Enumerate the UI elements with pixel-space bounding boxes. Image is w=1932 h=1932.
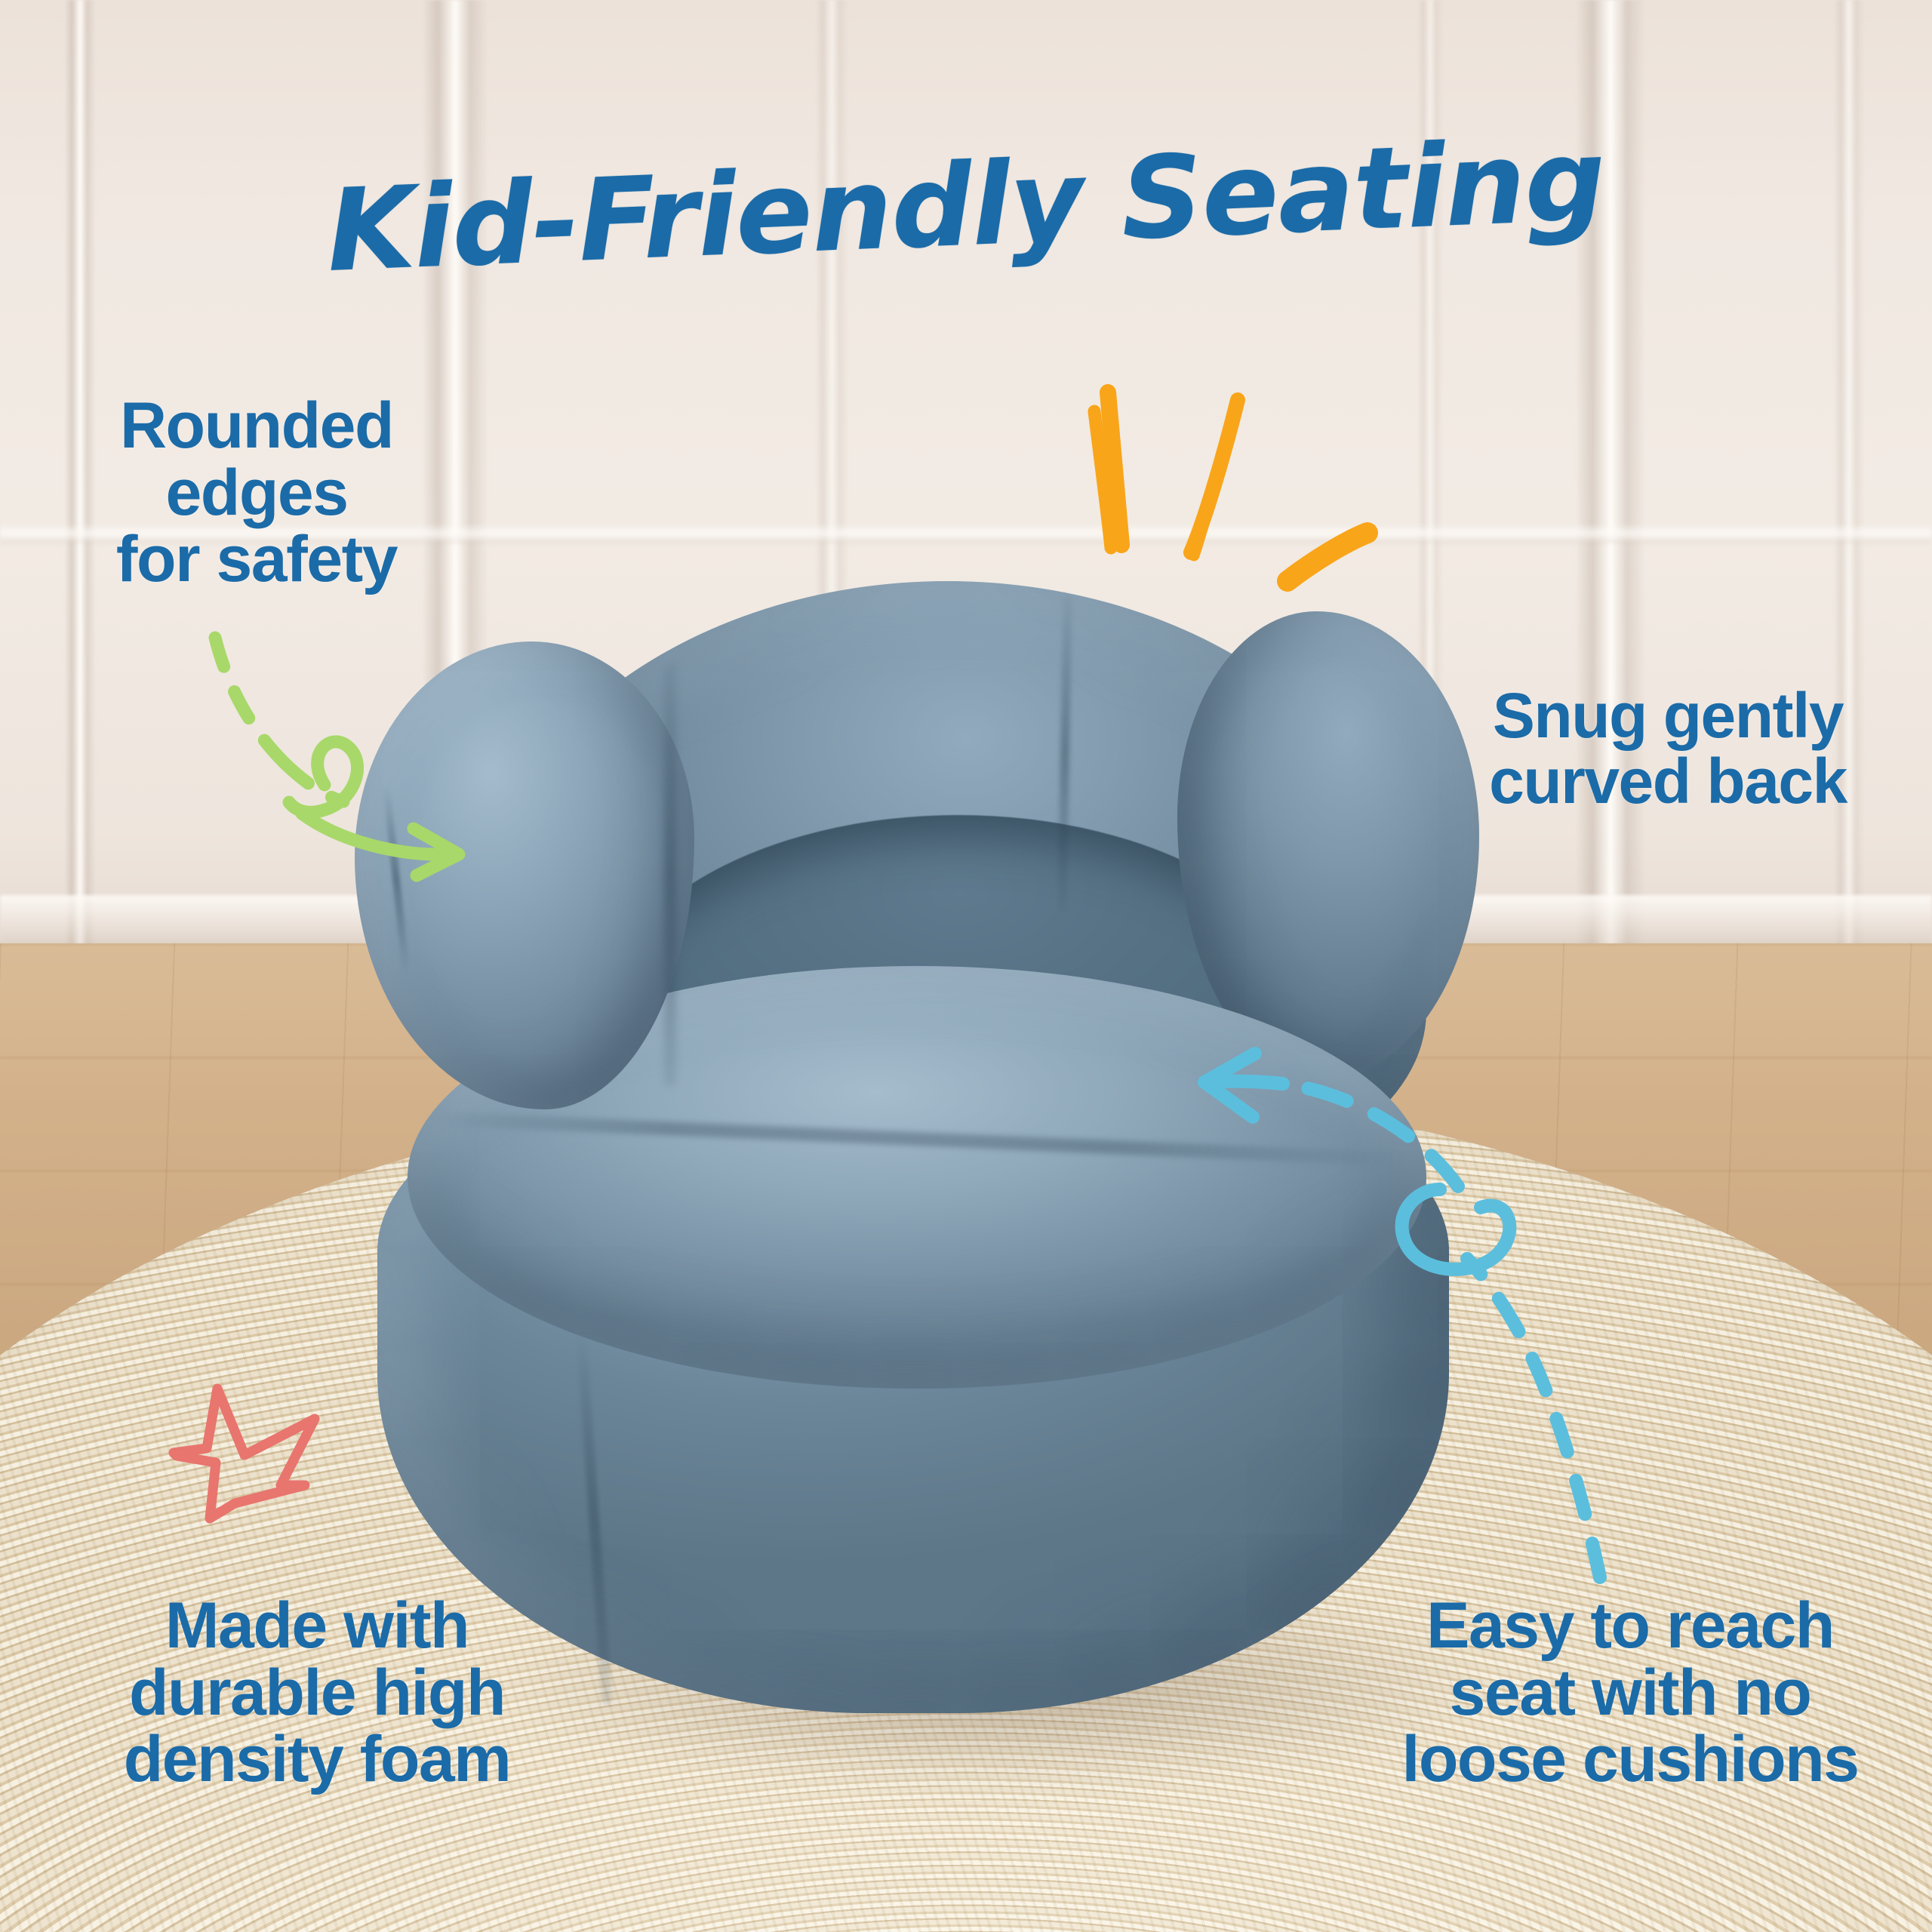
chair-left-arm xyxy=(355,641,694,1109)
callout-no-cushions-label: Easy to reachseat with noloose cushions xyxy=(1401,1589,1858,1795)
callout-rounded-edges: Roundededgesfor safety xyxy=(45,392,468,593)
callout-curved-back: Snug gentlycurved back xyxy=(1419,683,1917,814)
callout-rounded-edges-label: Roundededgesfor safety xyxy=(116,389,397,595)
callout-no-cushions: Easy to reachseat with noloose cushions xyxy=(1351,1592,1909,1793)
callout-curved-back-label: Snug gentlycurved back xyxy=(1489,680,1847,817)
infographic-canvas: Kid-Friendly Seating Roundededgesfor saf… xyxy=(0,0,1932,1932)
callout-density-foam-label: Made withdurable highdensity foam xyxy=(124,1589,510,1795)
callout-density-foam: Made withdurable highdensity foam xyxy=(75,1592,558,1793)
chair-arm-fold-shadow xyxy=(664,664,676,1087)
